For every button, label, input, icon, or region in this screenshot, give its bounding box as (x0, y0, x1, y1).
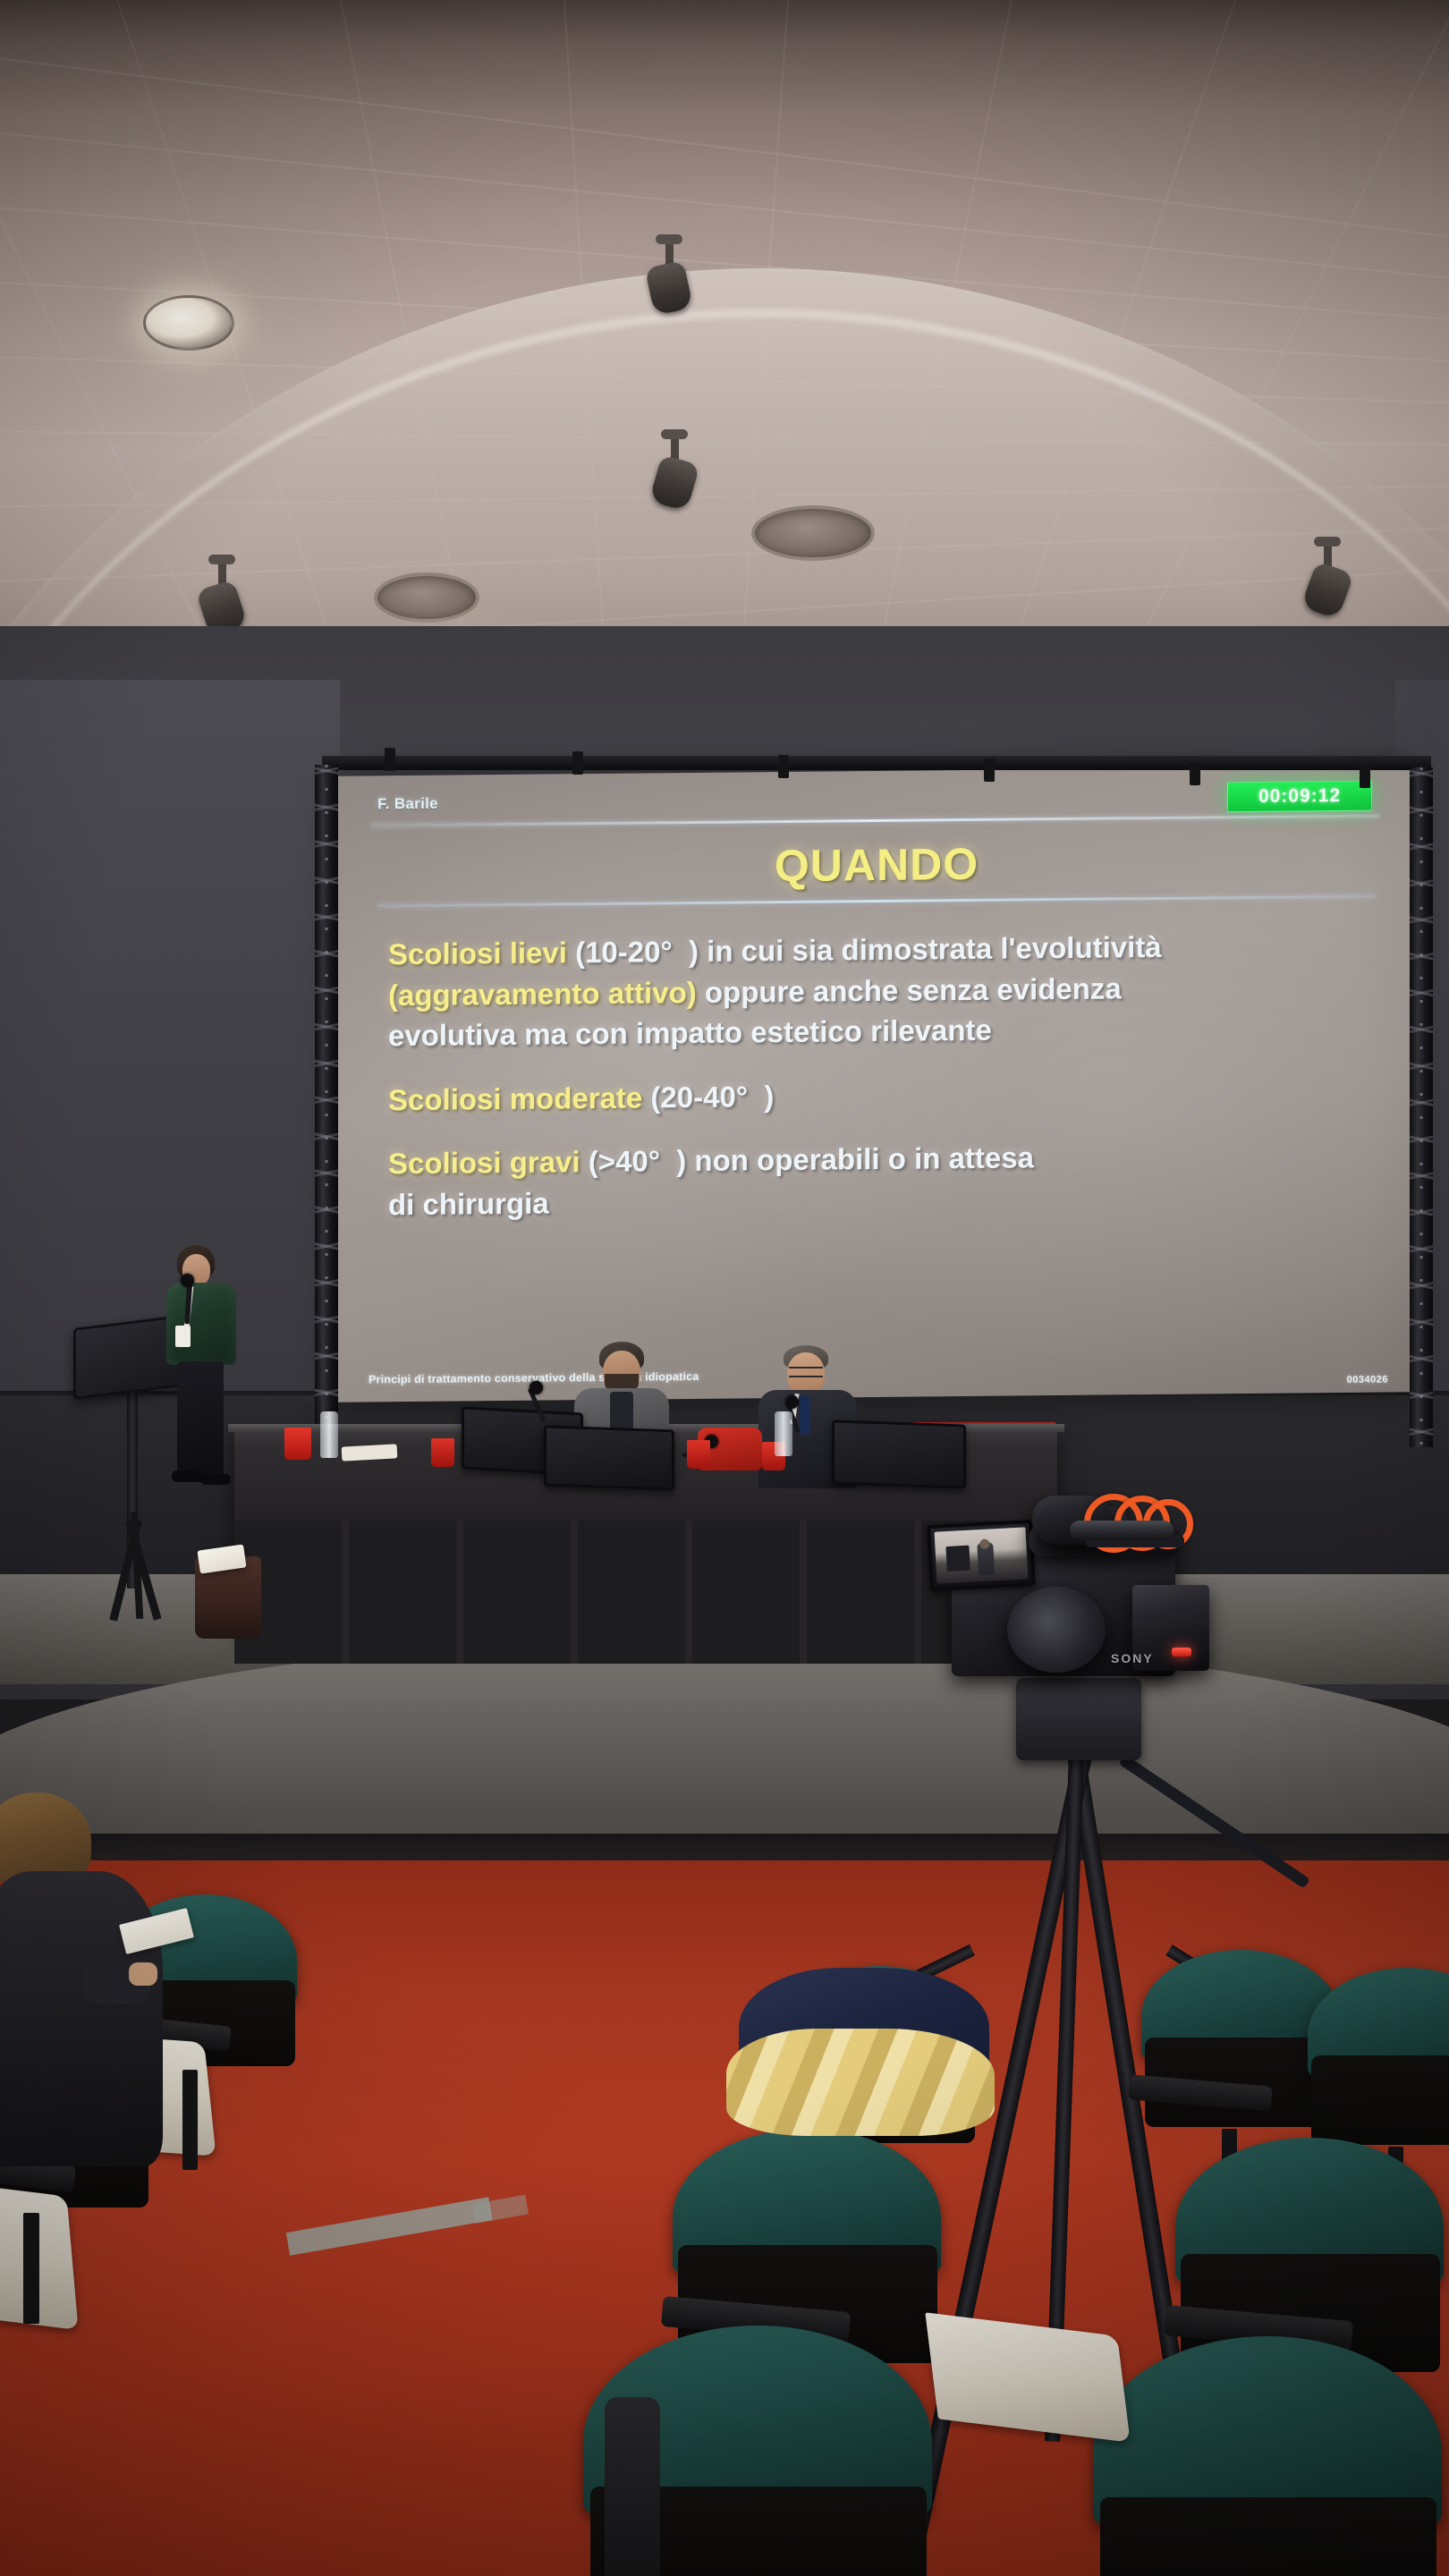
panel-monitor-right (832, 1419, 966, 1488)
slide-header: F. Barile 00:09:12 (365, 778, 1388, 829)
presenter-shoe (172, 1470, 204, 1482)
slide-page-number: 0034026 (1347, 1374, 1388, 1385)
screen-truss-right (1410, 767, 1433, 1447)
truss-clamp (1190, 762, 1200, 785)
header-divider (370, 815, 1379, 827)
title-divider (377, 895, 1376, 908)
slide-bullet-text: (10-20° ) in cui sia dimostrata l'evolut… (567, 930, 1162, 969)
camera-lcd-screen[interactable] (927, 1520, 1036, 1591)
presenter-badge (175, 1326, 191, 1347)
white-papers-on-table (342, 1444, 398, 1461)
lcd-preview-monitor (946, 1546, 970, 1572)
slide-bullet-text: di chirurgia (388, 1186, 549, 1221)
stage-spotlight (1308, 537, 1347, 614)
slide-bullet-highlight: Scoliosi lievi (388, 936, 567, 970)
ceiling-downlight (143, 295, 234, 351)
seat-cushion (1100, 2497, 1436, 2576)
projection-screen: F. Barile 00:09:12 QUANDO Scoliosi lievi… (338, 766, 1411, 1402)
slide-bullet-line: di chirurgia (388, 1174, 1368, 1224)
slide-bullet-highlight: Scoliosi moderate (388, 1080, 642, 1116)
truss-clamp (984, 758, 995, 782)
screen-truss-top (322, 756, 1431, 770)
stage-spotlight (655, 429, 694, 507)
slide-bullet: Scoliosi gravi (>40° ) non operabili o i… (388, 1134, 1368, 1225)
slide-bullet-line: Scoliosi moderate (20-40° ) (388, 1070, 1368, 1120)
water-bottle (775, 1411, 792, 1456)
countdown-timer: 00:09:12 (1227, 781, 1372, 813)
slide-bullet-highlight: (aggravamento attivo) (388, 975, 697, 1011)
stage-spotlight (649, 234, 689, 312)
folded-scarf (726, 2029, 995, 2136)
truss-clamp (572, 751, 583, 775)
stage-spotlight (202, 555, 241, 632)
tally-light (1172, 1648, 1191, 1657)
camera-brand-label: SONY (1111, 1651, 1154, 1665)
truss-clamp (778, 755, 789, 778)
conference-hall-scene: F. Barile 00:09:12 QUANDO Scoliosi lievi… (0, 0, 1449, 2576)
panel-monitor-center (544, 1425, 674, 1490)
presenter-name-tag: F. Barile (377, 795, 438, 814)
slide-bullet-highlight: Scoliosi gravi (388, 1145, 580, 1180)
presenter-torso (166, 1283, 236, 1365)
camera-lens-barrel (1007, 1587, 1106, 1673)
auditorium-seat[interactable] (1082, 2336, 1449, 2576)
presenter-legs (177, 1361, 224, 1476)
slide-bullet-line: evolutiva ma con impatto estetico rileva… (388, 1006, 1368, 1056)
slide-bullet-text: (20-40° ) (642, 1080, 774, 1114)
screen-truss-left (315, 765, 338, 1445)
attendee-torso (0, 1871, 163, 2166)
water-bottle (320, 1411, 338, 1458)
slide-bullet-text: evolutiva ma con impatto estetico rileva… (388, 1013, 992, 1052)
attendee-hand (129, 1962, 157, 1986)
slide-title: QUANDO (365, 834, 1388, 895)
ceiling-recessed-ring (751, 505, 875, 561)
seat-leg (23, 2213, 39, 2324)
presentation-slide: F. Barile 00:09:12 QUANDO Scoliosi lievi… (338, 766, 1411, 1402)
ceiling-recessed-ring (374, 572, 479, 623)
seat-cushion (1311, 2055, 1449, 2145)
slide-bullet-text: (>40° ) non operabili o in attesa (580, 1140, 1034, 1178)
ceiling-tile-line (0, 36, 1449, 267)
slide-bullet-text: oppure anche senza evidenza (697, 971, 1122, 1009)
panelist-right-glasses (789, 1367, 823, 1377)
truss-clamp (385, 748, 395, 771)
seat-armrest-foreground (605, 2397, 660, 2576)
slide-bullet: Scoliosi moderate (20-40° ) (388, 1070, 1368, 1120)
truss-clamp (1360, 765, 1370, 788)
slide-bullet-list: Scoliosi lievi (10-20° ) in cui sia dimo… (365, 924, 1388, 1224)
shotgun-microphone (1070, 1521, 1174, 1540)
red-cup (687, 1440, 710, 1469)
presenter-shoe (200, 1474, 231, 1485)
panelist-right-tie (800, 1395, 810, 1435)
lcd-preview-image (935, 1527, 1029, 1583)
red-cup (431, 1438, 454, 1467)
slide-bullet: Scoliosi lievi (10-20° ) in cui sia dimo… (388, 925, 1368, 1056)
red-cup (284, 1428, 311, 1460)
seat-leg (182, 2070, 198, 2170)
